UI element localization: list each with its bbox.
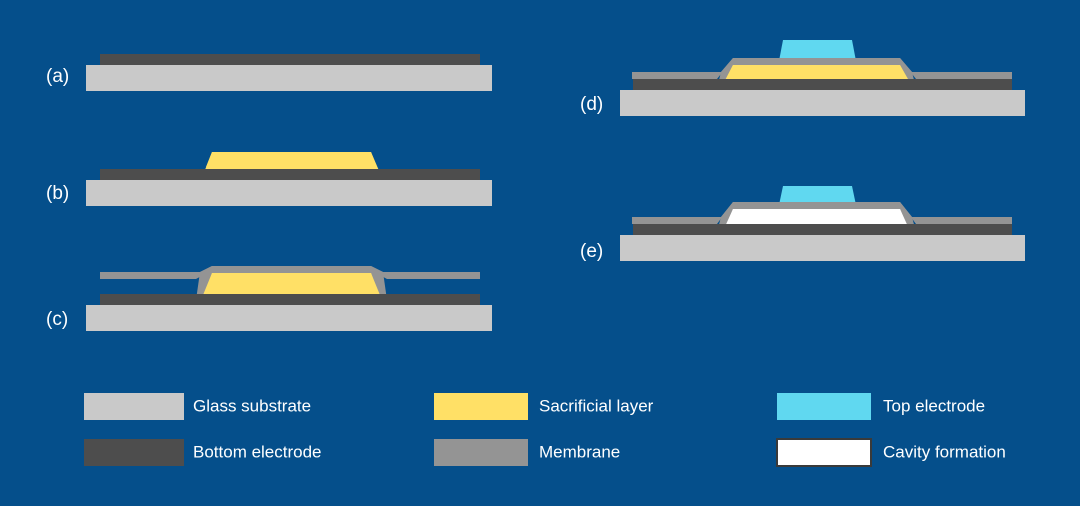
panel-b-label: (b) [46,183,69,204]
panel-c-sacrificial-layer-body [206,273,378,294]
panel-b-glass-substrate [86,180,492,206]
panel-e-bottom-electrode [633,224,1012,235]
legend-swatch-cavity-formation [777,439,871,466]
panel-c-label: (c) [46,309,68,330]
legend-label-glass-substrate: Glass substrate [193,396,311,415]
legend-label-sacrificial-layer: Sacrificial layer [539,396,654,415]
panel-a-label: (a) [46,66,69,87]
legend-label-bottom-electrode: Bottom electrode [193,442,322,461]
panel-c-glass-substrate [86,305,492,331]
panel-a: (a) [46,54,492,91]
panel-e-glass-substrate [620,235,1025,261]
legend-swatch-sacrificial-layer [434,393,528,420]
legend-swatch-top-electrode [777,393,871,420]
panel-d-glass-substrate [620,90,1025,116]
legend-label-membrane: Membrane [539,442,620,461]
panel-a-bottom-electrode [100,54,480,65]
panel-c: (c) [46,266,492,331]
legend-label-cavity-formation: Cavity formation [883,442,1006,461]
panel-c-bottom-electrode [100,294,480,305]
legend-swatch-membrane [434,439,528,466]
panel-b-sacrificial-layer-top [206,152,377,167]
panel-a-glass-substrate [86,65,492,91]
panel-e-cavity-body [727,209,906,224]
legend-swatch-glass-substrate [84,393,184,420]
panel-e-label: (e) [580,241,603,262]
panel-d-sacrificial-layer-body [726,65,908,79]
legend-swatch-bottom-electrode [84,439,184,466]
legend-label-top-electrode: Top electrode [883,396,985,415]
panel-d-bottom-electrode [633,79,1012,90]
process-flow-figure: (a) (b) (c) (d) [0,0,1080,506]
panel-b-bottom-electrode [100,169,480,180]
panel-d-top-electrode [779,40,856,61]
panel-d-label: (d) [580,94,603,115]
